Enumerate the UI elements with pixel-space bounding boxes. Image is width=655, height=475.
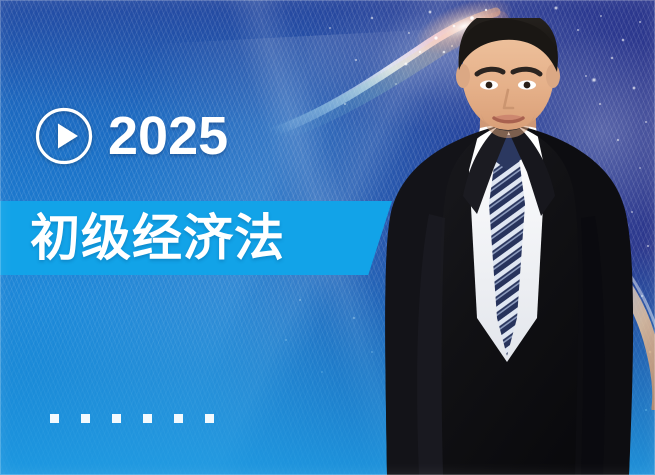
dot-marker [50,414,59,423]
dot-marker [174,414,183,423]
year-label: 2025 [108,109,228,163]
play-year-row: 2025 [34,106,228,166]
title-banner: 初级经济法 [0,201,392,275]
dot-row [50,414,214,423]
course-thumbnail-poster: 2025 初级经济法 [0,0,655,475]
dot-marker [81,414,90,423]
course-title: 初级经济法 [30,213,285,263]
dot-marker [205,414,214,423]
dot-marker [143,414,152,423]
presenter-portrait [385,18,655,475]
dot-marker [112,414,121,423]
play-circle-icon[interactable] [34,106,94,166]
